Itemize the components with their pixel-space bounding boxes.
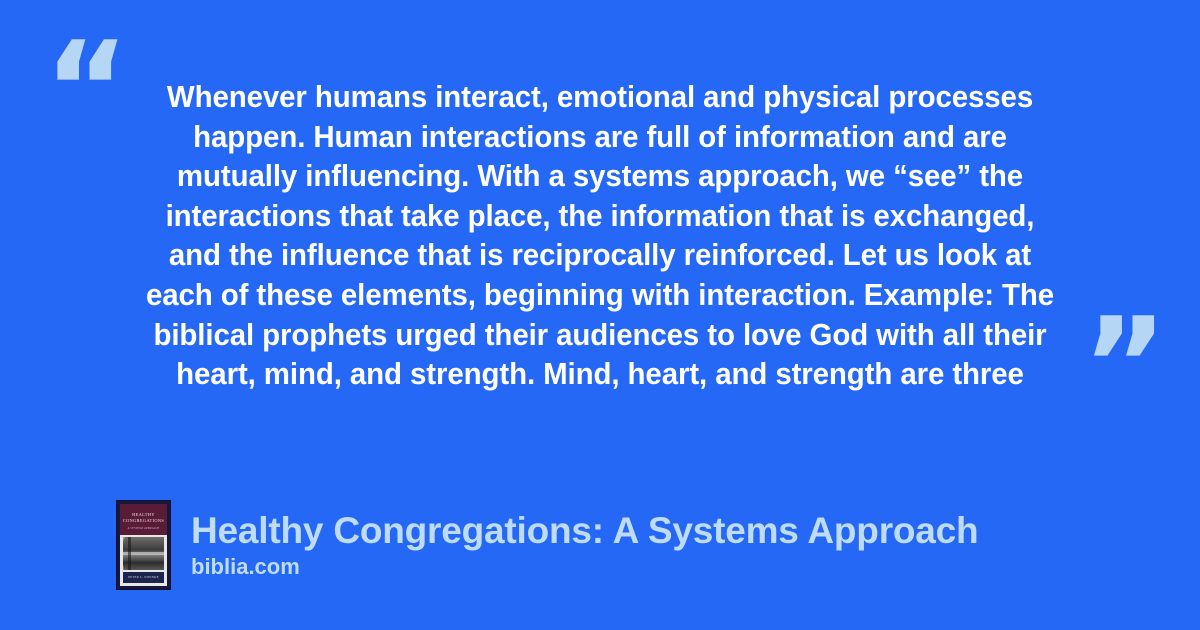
footer-text-block: Healthy Congregations: A Systems Approac…	[191, 510, 978, 580]
book-cover-subtitle: A Systems Approach	[128, 527, 160, 530]
book-cover-author: Peter L. Steinke	[128, 575, 159, 579]
book-cover-art: Healthy Congregations A Systems Approach…	[120, 504, 167, 586]
opening-quote-mark: “	[44, 24, 127, 154]
footer: Healthy Congregations A Systems Approach…	[116, 500, 978, 590]
book-title[interactable]: Healthy Congregations: A Systems Approac…	[191, 510, 978, 552]
book-cover-header: Healthy Congregations A Systems Approach	[120, 504, 167, 535]
book-cover-author-band: Peter L. Steinke	[123, 572, 164, 583]
closing-quote-mark: ”	[1082, 300, 1165, 430]
quote-card: “ Whenever humans interact, emotional an…	[0, 0, 1200, 630]
book-cover-photo	[123, 537, 164, 569]
site-name[interactable]: biblia.com	[191, 554, 978, 580]
book-cover-title-line-2: Congregations	[123, 518, 164, 524]
quote-text: Whenever humans interact, emotional and …	[118, 78, 1083, 395]
book-cover-thumbnail[interactable]: Healthy Congregations A Systems Approach…	[116, 500, 171, 590]
